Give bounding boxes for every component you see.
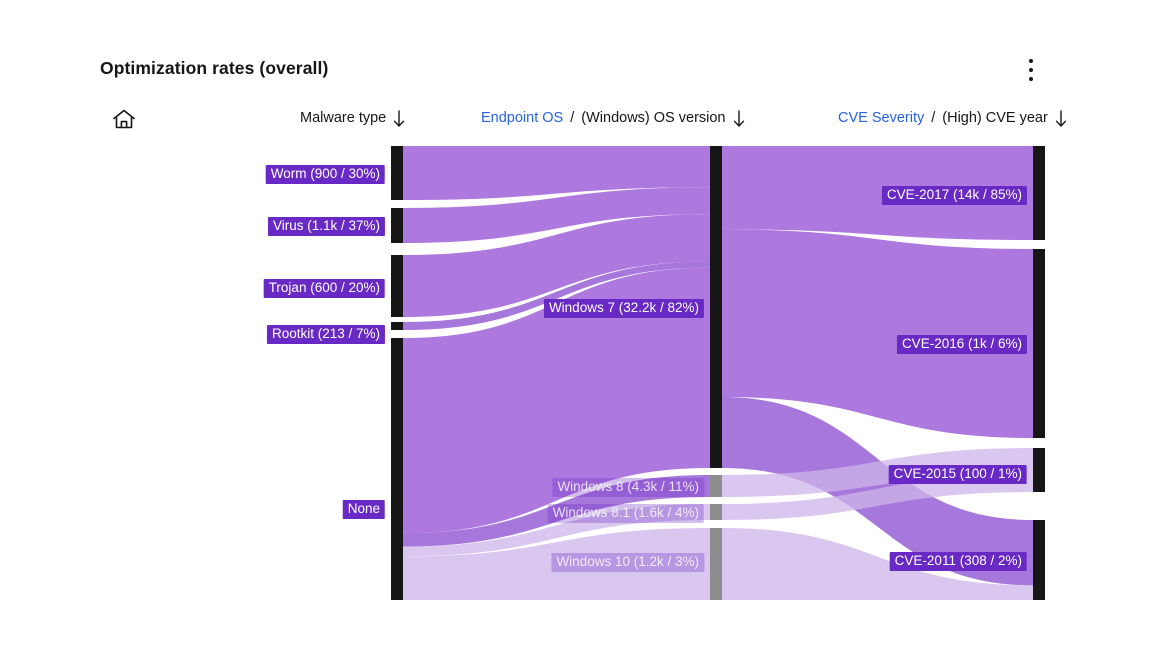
sankey-node-label-win10[interactable]: Windows 10 (1.2k / 3%) [551, 553, 704, 572]
sankey-diagram [0, 0, 1152, 648]
sankey-node-bar[interactable] [1033, 146, 1045, 240]
sankey-node-bar[interactable] [710, 504, 722, 520]
sankey-node-bar[interactable] [1033, 448, 1045, 492]
sankey-node-bar[interactable] [710, 146, 722, 468]
chart-card: Optimization rates (overall) Malware typ… [0, 0, 1152, 648]
sankey-node-bar[interactable] [710, 528, 722, 600]
sankey-node-bar[interactable] [710, 475, 722, 497]
sankey-node-label-cve2015[interactable]: CVE-2015 (100 / 1%) [889, 465, 1027, 484]
sankey-node-bar[interactable] [391, 255, 403, 317]
sankey-node-bar[interactable] [1033, 520, 1045, 600]
sankey-node-label-cve2016[interactable]: CVE-2016 (1k / 6%) [897, 335, 1027, 354]
sankey-node-label-win7[interactable]: Windows 7 (32.2k / 82%) [544, 299, 704, 318]
sankey-node-label-cve2017[interactable]: CVE-2017 (14k / 85%) [882, 186, 1027, 205]
sankey-node-label-none[interactable]: None [343, 500, 385, 519]
sankey-node-label-cve2011[interactable]: CVE-2011 (308 / 2%) [890, 552, 1027, 571]
sankey-node-bar[interactable] [391, 146, 403, 200]
sankey-node-label-virus[interactable]: Virus (1.1k / 37%) [268, 217, 385, 236]
sankey-node-label-win81[interactable]: Windows 8.1 (1.6k / 4%) [548, 504, 704, 523]
sankey-node-label-rootkit[interactable]: Rootkit (213 / 7%) [267, 325, 385, 344]
sankey-node-label-win8[interactable]: Windows 8 (4.3k / 11%) [552, 478, 704, 497]
sankey-node-bar[interactable] [1033, 249, 1045, 438]
sankey-node-label-worm[interactable]: Worm (900 / 30%) [266, 165, 385, 184]
sankey-node-bar[interactable] [391, 322, 403, 330]
sankey-node-bar[interactable] [391, 208, 403, 243]
sankey-node-label-trojan[interactable]: Trojan (600 / 20%) [264, 279, 385, 298]
sankey-node-bar[interactable] [391, 338, 403, 600]
